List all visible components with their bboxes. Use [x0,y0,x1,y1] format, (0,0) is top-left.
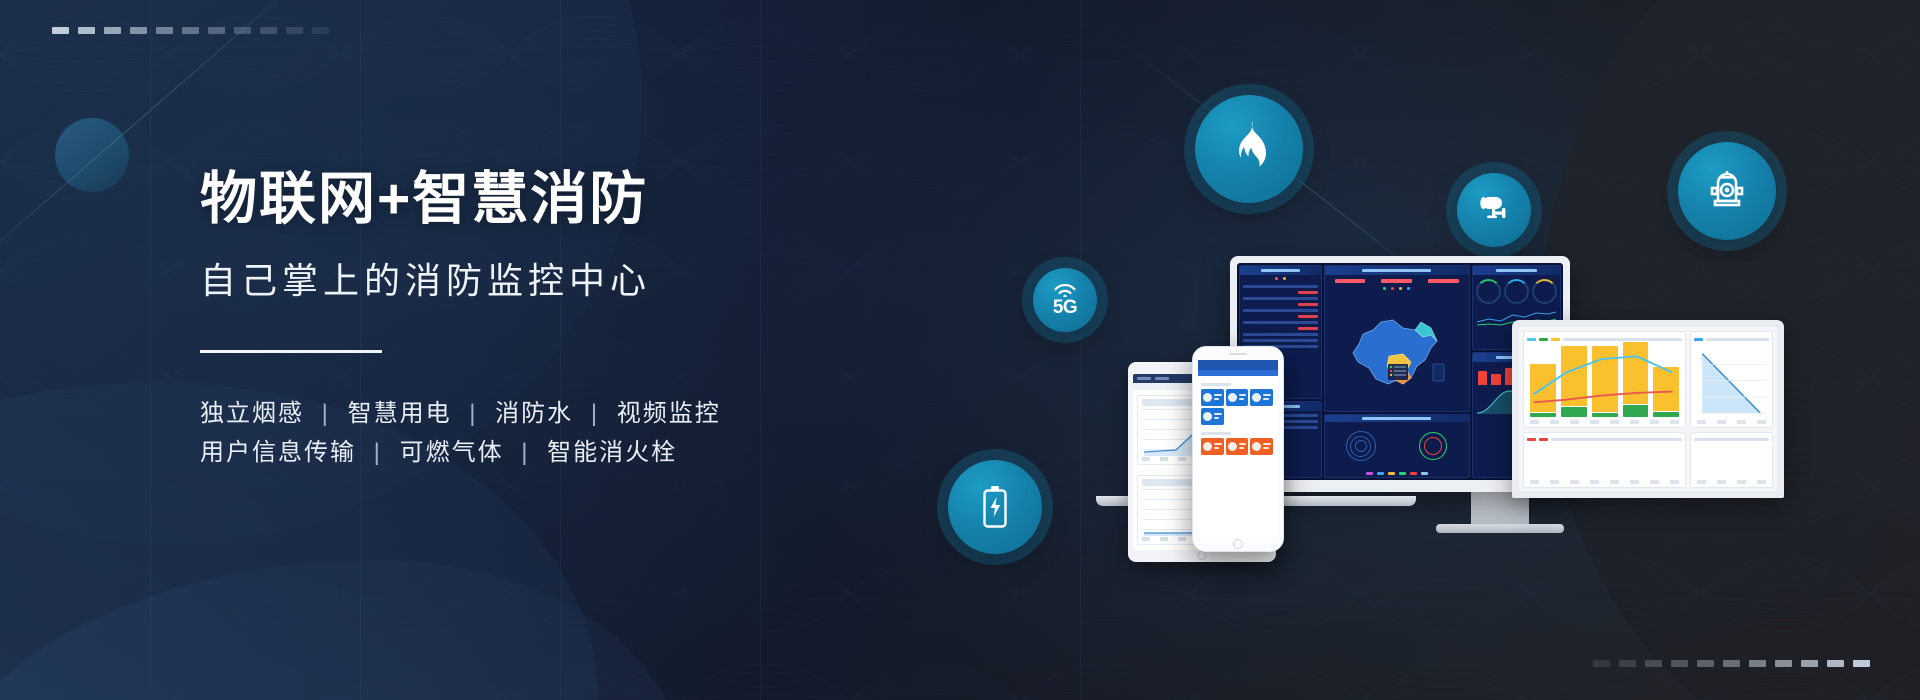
hero-text-column: 物联网+智慧消防 自己掌上的消防监控中心 独立烟感 | 智慧用电 | 消防水 |… [200,168,960,473]
feature-item: 可燃气体 [400,439,504,466]
5g-signal-icon: 5G [1053,284,1077,317]
fire-hydrant-icon-badge[interactable] [1678,142,1776,240]
tile-icon [1203,412,1212,421]
feature-separator: | [582,400,608,427]
battery-bolt-icon-badge[interactable] [948,460,1042,554]
flame-icon [1225,121,1273,177]
china-map-widget [1325,292,1469,411]
dashboard-center-column [1324,265,1470,478]
laptop-grid-card-1 [1523,432,1686,488]
chart-x-axis [1697,420,1766,424]
5g-signal-icon-badge[interactable]: 5G [1033,268,1097,332]
feature-item: 视频监控 [617,400,721,427]
feature-separator: | [460,400,486,427]
cctv-camera-icon-badge[interactable] [1457,173,1531,247]
monitor-base [1436,524,1564,533]
panel-footer-legend [1325,470,1469,477]
panel-header [1325,415,1469,422]
decor-dashes-bottom-right [1593,660,1870,667]
feature-item: 消防水 [495,400,573,427]
laptop-bar-chart-card [1523,331,1686,428]
sonar-widget-left [1325,422,1397,470]
china-map-shape [1345,308,1449,396]
tile-icon [1228,442,1237,451]
feature-separator: | [512,439,538,466]
phone-tile[interactable] [1201,408,1224,425]
cctv-camera-icon [1476,195,1512,225]
card-title-bar [1142,399,1196,406]
laptop-screen-report [1519,327,1777,491]
panel-header [1240,266,1321,275]
5g-label: 5G [1053,298,1077,317]
tile-icon [1203,393,1212,402]
section-label [1201,383,1231,386]
gauge-2 [1504,279,1529,304]
phone-home-button[interactable] [1233,539,1243,549]
decor-vertical-line-5 [1080,0,1081,700]
decor-circle-left [55,118,129,192]
tile-icon [1228,393,1237,402]
feature-item: 智慧用电 [348,400,452,427]
decor-vertical-line-1 [150,0,151,700]
card-title-bar [1142,479,1196,486]
decor-dashes-top-left [52,27,329,34]
gauge-1 [1476,279,1501,304]
map-legend [1325,285,1469,292]
panel-legend [1240,275,1321,282]
dashboard-map-panel [1324,265,1470,412]
phone-tile[interactable] [1250,438,1273,455]
phone-tile[interactable] [1226,438,1249,455]
phone-tile[interactable] [1201,438,1224,455]
hero-feature-list: 独立烟感 | 智慧用电 | 消防水 | 视频监控 用户信息传输 | 可燃气体 |… [200,395,960,473]
laptop-grid-card-2 [1690,432,1773,488]
panel-rows [1240,282,1321,351]
laptop-line-overlay [1524,332,1685,427]
phone-app-subheader [1198,370,1278,376]
dashboard-radar-panel [1324,414,1470,478]
phone-section-orange [1198,427,1278,457]
feature-separator: | [313,400,339,427]
gauge-3 [1532,279,1557,304]
phone-tile[interactable] [1250,389,1273,406]
smartphone-device[interactable] [1192,346,1284,552]
hero-banner: 物联网+智慧消防 自己掌上的消防监控中心 独立烟感 | 智慧用电 | 消防水 |… [0,0,1920,700]
chart-x-axis [1530,480,1679,484]
hero-subheadline: 自己掌上的消防监控中心 [200,252,960,304]
device-mockup-cluster [1120,280,1880,580]
feature-separator: | [365,439,391,466]
tile-icon [1203,442,1212,451]
feature-item: 独立烟感 [200,400,304,427]
feature-line-2: 用户信息传输 | 可燃气体 | 智能消火栓 [200,434,960,473]
laptop-trend-card [1690,331,1773,428]
chart-legend [1694,436,1769,444]
laptop-bottom-row [1523,432,1773,488]
decor-blob-bottom-left-2 [0,560,680,700]
panel-header [1473,266,1560,275]
phone-screen-app [1198,360,1278,538]
feature-item: 智能消火栓 [547,439,677,466]
feature-line-1: 独立烟感 | 智慧用电 | 消防水 | 视频监控 [200,395,960,434]
phone-section-blue [1198,378,1278,427]
tablet-home-button[interactable] [1198,551,1207,560]
sonar-widget-right [1397,422,1469,470]
dashboard-kpi-row [1325,275,1469,285]
panel-header [1325,266,1469,275]
tile-icon [1252,393,1261,402]
phone-app-header [1198,360,1278,370]
phone-tile[interactable] [1226,389,1249,406]
chart-x-axis [1530,420,1679,424]
section-label [1201,432,1231,435]
tile-icon [1252,442,1261,451]
phone-tile-grid-orange [1201,438,1275,455]
fire-hydrant-icon [1706,167,1748,215]
hero-divider-rule [200,350,382,353]
chart-legend [1527,436,1682,444]
laptop-descending-area [1691,332,1772,427]
battery-bolt-icon [980,485,1010,529]
laptop-chart-row [1523,331,1773,428]
feature-item: 用户信息传输 [200,439,356,466]
phone-tile-grid-blue [1201,389,1275,425]
hero-headline: 物联网+智慧消防 [200,168,960,232]
phone-tile[interactable] [1201,389,1224,406]
phone-speaker [1229,353,1247,355]
flame-icon-badge[interactable] [1195,95,1303,203]
chart-x-axis [1697,480,1766,484]
laptop-device[interactable] [1512,320,1784,498]
gauge-group [1473,275,1560,308]
